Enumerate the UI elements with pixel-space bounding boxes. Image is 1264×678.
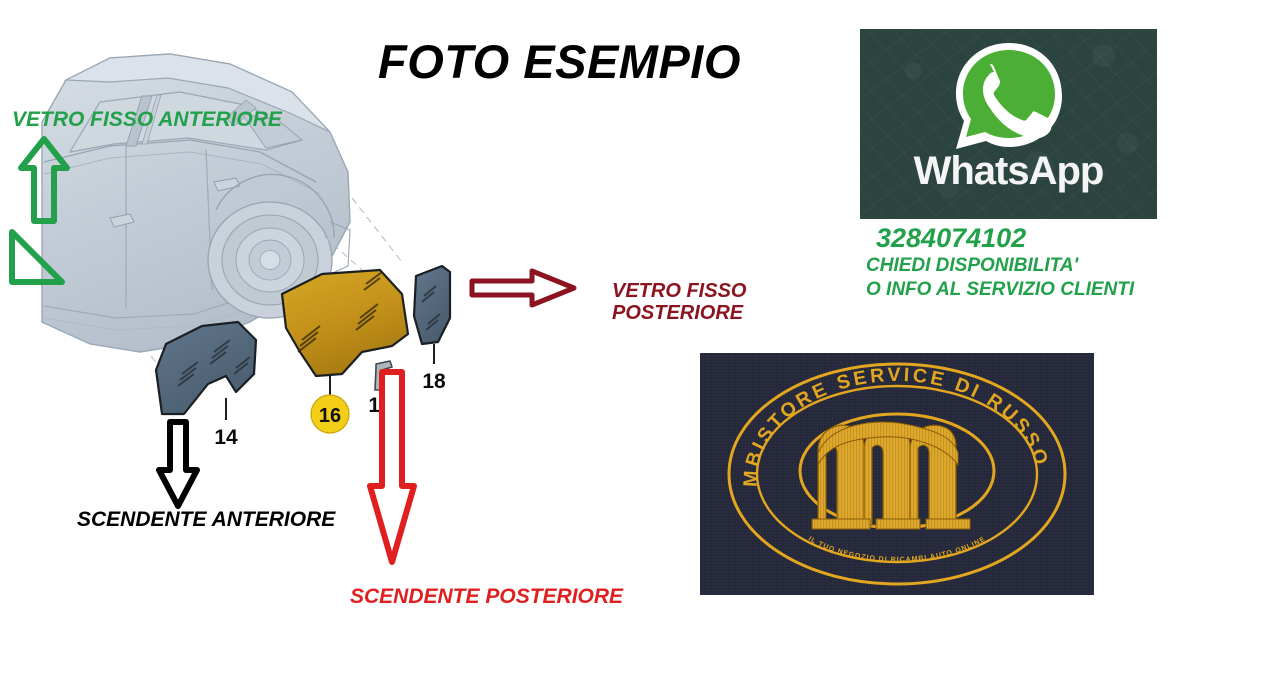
label-vetro-fisso-posteriore-line2: POSTERIORE bbox=[612, 302, 746, 324]
whatsapp-phone-bubble-icon bbox=[950, 37, 1068, 155]
part-number-16: 16 bbox=[319, 405, 341, 427]
label-vetro-fisso-posteriore: VETRO FISSO POSTERIORE bbox=[612, 280, 746, 325]
shop-logo-monogram bbox=[812, 422, 970, 529]
triangle-marker-green-icon bbox=[8, 228, 66, 286]
up-arrow-green-icon bbox=[18, 135, 70, 225]
contact-block: 3284074102 CHIEDI DISPONIBILITA' O INFO … bbox=[866, 224, 1196, 303]
page-title: FOTO ESEMPIO bbox=[378, 34, 741, 89]
label-scendente-anteriore: SCENDENTE ANTERIORE bbox=[77, 508, 335, 532]
part-number-18: 18 bbox=[422, 370, 446, 393]
part-number-14: 14 bbox=[214, 426, 238, 449]
right-arrow-dark-red-icon bbox=[468, 267, 578, 309]
down-arrow-black-icon bbox=[155, 418, 201, 510]
label-scendente-posteriore: SCENDENTE POSTERIORE bbox=[350, 585, 623, 609]
contact-line-1: CHIEDI DISPONIBILITA' bbox=[866, 254, 1196, 279]
part-18-quarter-glass bbox=[414, 266, 450, 364]
down-arrow-red-icon bbox=[366, 368, 418, 568]
contact-phone-number[interactable]: 3284074102 bbox=[876, 224, 1196, 254]
whatsapp-banner: WhatsApp bbox=[860, 29, 1157, 219]
part-number-16-badge: 16 bbox=[311, 395, 349, 433]
shop-logo-tagline: IL TUO NEGOZIO DI RICAMBI AUTO ONLINE bbox=[807, 536, 987, 564]
shop-logo-arc-text: MRICAMBISTORE SERVICE DI RUSSO MARCO bbox=[700, 353, 1054, 487]
label-vetro-fisso-posteriore-line1: VETRO FISSO bbox=[612, 280, 746, 302]
whatsapp-wordmark: WhatsApp bbox=[860, 149, 1157, 194]
shop-logo: MRICAMBISTORE SERVICE DI RUSSO MARCO IL … bbox=[700, 353, 1094, 595]
contact-line-2: O INFO AL SERVIZIO CLIENTI bbox=[866, 278, 1196, 303]
label-vetro-fisso-anteriore: VETRO FISSO ANTERIORE bbox=[12, 108, 282, 132]
poster-canvas: 14 16 17 bbox=[0, 0, 1264, 678]
